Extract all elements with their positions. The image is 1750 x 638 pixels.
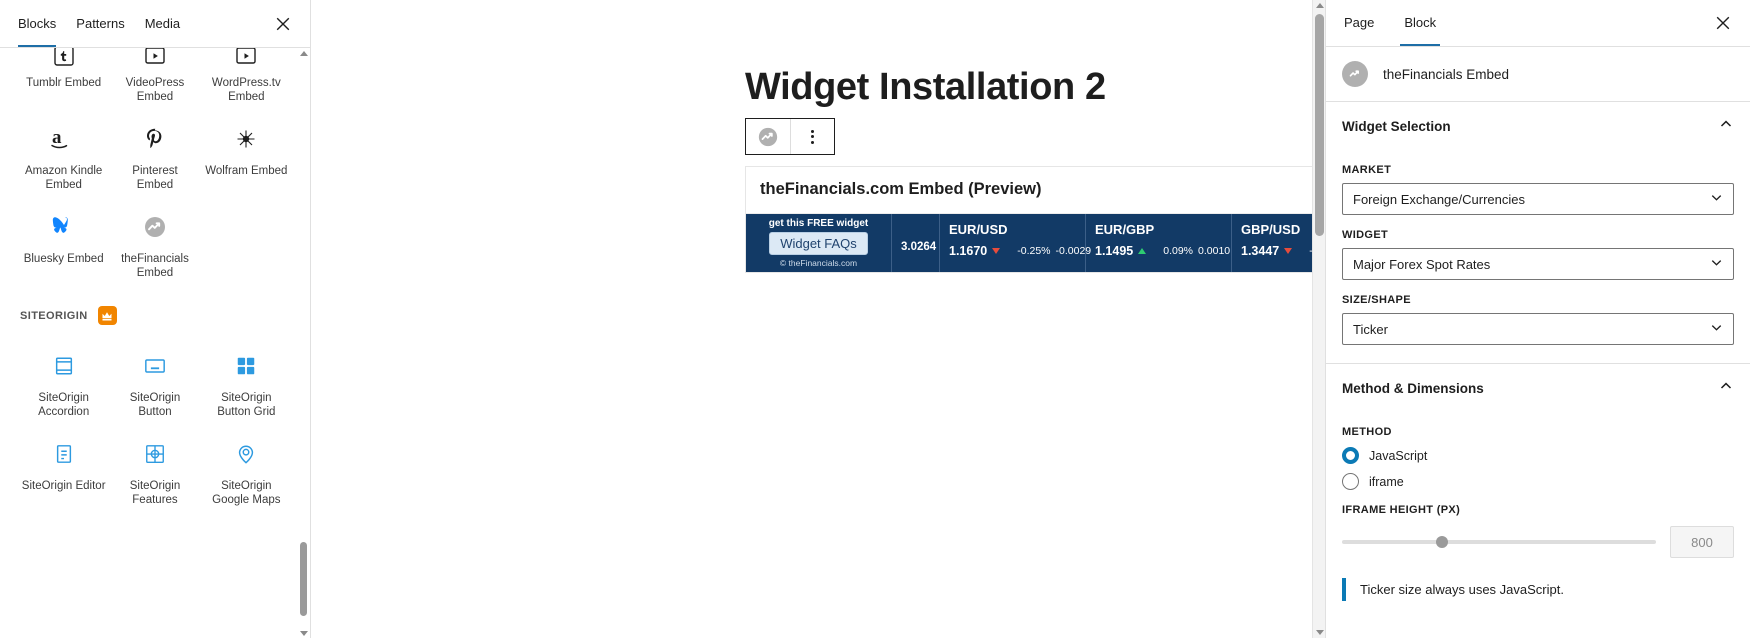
thefinancials-embed-block[interactable]: theFinancials.com Embed (Preview) get th… [745, 166, 1325, 273]
block-item-siteorigin-google-maps[interactable]: SiteOrigin Google Maps [201, 419, 292, 507]
block-item-siteorigin-features[interactable]: SiteOrigin Features [109, 419, 200, 507]
block-item-siteorigin-editor[interactable]: SiteOrigin Editor [18, 419, 109, 507]
selected-block-name: theFinancials Embed [1383, 67, 1509, 82]
quote-values: 1.1670 -0.25% -0.0029 [949, 244, 1077, 258]
block-item-label: SiteOrigin Google Maps [204, 479, 288, 507]
field-widget: WIDGET Major Forex Spot Rates [1342, 229, 1734, 280]
scroll-down-arrow[interactable] [299, 628, 308, 638]
ticker-lead-value-cell: 3.0264 [892, 214, 940, 272]
chevron-down-icon [1316, 630, 1324, 635]
block-options-button[interactable] [790, 119, 834, 154]
quote-change-pct: 0.09% [1163, 245, 1193, 257]
ticker-quote-eur-gbp[interactable]: EUR/GBP 1.1495 0.09% 0.0010 [1086, 214, 1232, 272]
block-type-button[interactable] [746, 119, 790, 154]
panel-widget-selection: Widget Selection MARKET Foreign Exchange… [1326, 102, 1750, 364]
chevron-up-icon [1316, 3, 1324, 8]
tab-patterns[interactable]: Patterns [66, 0, 134, 47]
quote-pair: EUR/GBP [1095, 222, 1223, 237]
radio-label: JavaScript [1369, 449, 1427, 463]
pinterest-icon [142, 122, 168, 156]
block-item-label: Pinterest Embed [113, 164, 197, 192]
block-item-amazon-kindle-embed[interactable]: a Amazon Kindle Embed [18, 104, 109, 192]
block-item-wolfram-embed[interactable]: Wolfram Embed [201, 104, 292, 192]
panel-method-dimensions-header[interactable]: Method & Dimensions [1342, 364, 1734, 412]
iframe-height-label: IFRAME HEIGHT (PX) [1342, 504, 1734, 516]
features-icon [144, 437, 166, 471]
size-shape-select[interactable]: Ticker [1342, 313, 1734, 345]
chevron-up-icon [1718, 378, 1734, 399]
ticker-notice: Ticker size always uses JavaScript. [1342, 578, 1734, 601]
trend-down-icon [1284, 248, 1292, 254]
field-size-shape: SIZE/SHAPE Ticker [1342, 294, 1734, 345]
panel-title: Widget Selection [1342, 119, 1451, 134]
scroll-up-arrow[interactable] [1316, 3, 1324, 8]
tumblr-icon [52, 48, 76, 68]
editor-canvas: Widget Installation 2 theFinancials.com … [311, 0, 1325, 638]
close-icon [275, 16, 291, 32]
block-item-label: Bluesky Embed [24, 252, 104, 266]
field-method: METHOD JavaScript iframe [1342, 426, 1734, 490]
chevron-down-icon [1709, 190, 1724, 208]
siteorigin-blocks-grid: SiteOrigin Accordion SiteOrigin Button S… [18, 331, 292, 507]
settings-sidebar: Page Block theFinancials Embed Widget Se… [1325, 0, 1750, 638]
google-maps-icon [235, 437, 257, 471]
block-item-label: theFinancials Embed [113, 252, 197, 280]
ticker-brand: get this FREE widget Widget FAQs © theFi… [746, 214, 892, 272]
widget-faqs-button[interactable]: Widget FAQs [769, 232, 868, 255]
crown-icon [101, 310, 113, 322]
ticker-lead-value: 3.0264 [901, 241, 936, 253]
block-item-label: SiteOrigin Button Grid [204, 391, 288, 419]
bluesky-icon [51, 210, 77, 244]
block-item-bluesky-embed[interactable]: Bluesky Embed [18, 192, 109, 280]
field-iframe-height: IFRAME HEIGHT (PX) 800 [1342, 504, 1734, 558]
accordion-icon [53, 349, 75, 383]
selected-block-card: theFinancials Embed [1326, 47, 1750, 102]
inserter-block-list: Tumblr Embed VideoPress Embed WordPress.… [0, 48, 310, 638]
block-item-label: SiteOrigin Accordion [22, 391, 106, 419]
chevron-down-icon [300, 631, 308, 636]
chevron-up-icon [300, 51, 308, 56]
thefinancials-icon [143, 210, 167, 244]
scroll-up-arrow[interactable] [299, 48, 308, 58]
chevron-down-icon [1709, 255, 1724, 273]
siteorigin-group-title: SITEORIGIN [20, 310, 88, 322]
panel-title: Method & Dimensions [1342, 381, 1484, 396]
size-shape-label: SIZE/SHAPE [1342, 294, 1734, 306]
quote-change-abs: 0.0010 [1198, 245, 1230, 257]
slider-knob[interactable] [1436, 536, 1448, 548]
iframe-height-input[interactable]: 800 [1670, 526, 1734, 558]
block-item-label: Tumblr Embed [26, 76, 101, 90]
block-item-label: WordPress.tv Embed [204, 76, 288, 104]
quote-price: 1.1670 [949, 244, 987, 258]
siteorigin-premium-badge [98, 306, 117, 325]
inserter-scrollbar[interactable] [299, 48, 308, 638]
block-toolbar [745, 118, 835, 155]
market-label: MARKET [1342, 164, 1734, 176]
block-item-tumblr-embed[interactable]: Tumblr Embed [18, 48, 109, 104]
ticker-copyright: © theFinancials.com [780, 258, 857, 268]
editor-icon [54, 437, 74, 471]
scroll-down-arrow[interactable] [1316, 630, 1324, 635]
quote-change-pct: -0.25% [1017, 245, 1050, 257]
svg-text:a: a [52, 127, 62, 148]
block-item-label: Wolfram Embed [205, 164, 287, 178]
radio-option-javascript[interactable]: JavaScript [1342, 447, 1734, 464]
block-item-thefinancials-embed[interactable]: theFinancials Embed [109, 192, 200, 280]
size-shape-value: Ticker [1353, 322, 1388, 337]
notice-text: Ticker size always uses JavaScript. [1346, 578, 1564, 601]
market-select[interactable]: Foreign Exchange/Currencies [1342, 183, 1734, 215]
block-item-label: Amazon Kindle Embed [22, 164, 106, 192]
block-item-siteorigin-button-grid[interactable]: SiteOrigin Button Grid [201, 331, 292, 419]
wolfram-icon [234, 122, 258, 156]
button-icon [143, 349, 167, 383]
ticker-quote-eur-usd[interactable]: EUR/USD 1.1670 -0.25% -0.0029 [940, 214, 1086, 272]
quote-values: 1.1495 0.09% 0.0010 [1095, 244, 1223, 258]
widget-label: WIDGET [1342, 229, 1734, 241]
quote-price: 1.1495 [1095, 244, 1133, 258]
block-inserter-panel: Blocks Patterns Media Tumblr Embed [0, 0, 311, 638]
embed-preview-body: get this FREE widget Widget FAQs © theFi… [746, 214, 1325, 272]
canvas-scrollbar[interactable] [1312, 0, 1325, 638]
block-item-label: SiteOrigin Button [113, 391, 197, 419]
thefinancials-icon [757, 126, 779, 148]
scrollbar-thumb[interactable] [1315, 14, 1324, 236]
panel-method-dimensions: Method & Dimensions METHOD JavaScript if… [1326, 364, 1750, 619]
trend-down-icon [992, 248, 1000, 254]
radio-option-iframe[interactable]: iframe [1342, 473, 1734, 490]
tab-media[interactable]: Media [135, 0, 190, 47]
block-item-label: SiteOrigin Editor [22, 479, 106, 493]
quote-price: 1.3447 [1241, 244, 1279, 258]
block-item-wordpresstv-embed[interactable]: WordPress.tv Embed [201, 48, 292, 104]
block-item-siteorigin-accordion[interactable]: SiteOrigin Accordion [18, 331, 109, 419]
chevron-down-icon [1709, 320, 1724, 338]
close-settings-button[interactable] [1710, 10, 1736, 36]
close-icon [1715, 15, 1731, 31]
chevron-up-icon [1718, 116, 1734, 137]
siteorigin-group-header: SITEORIGIN [18, 306, 292, 325]
quote-pair: EUR/USD [949, 222, 1077, 237]
amazon-icon: a [49, 122, 79, 156]
widget-select[interactable]: Major Forex Spot Rates [1342, 248, 1734, 280]
button-grid-icon [235, 349, 257, 383]
tab-blocks[interactable]: Blocks [8, 0, 66, 47]
block-item-videopress-embed[interactable]: VideoPress Embed [109, 48, 200, 104]
ticker-promo-text: get this FREE widget [769, 218, 868, 229]
radio-javascript[interactable] [1342, 447, 1359, 464]
widget-value: Major Forex Spot Rates [1353, 257, 1490, 272]
close-inserter-button[interactable] [270, 11, 296, 37]
block-item-label: SiteOrigin Features [113, 479, 197, 507]
iframe-height-control: 800 [1342, 526, 1734, 558]
wordpress-block-editor: Blocks Patterns Media Tumblr Embed [0, 0, 1750, 638]
radio-iframe[interactable] [1342, 473, 1359, 490]
scrollbar-thumb[interactable] [300, 542, 307, 616]
iframe-height-slider[interactable] [1342, 540, 1656, 544]
market-value: Foreign Exchange/Currencies [1353, 192, 1525, 207]
radio-label: iframe [1369, 475, 1404, 489]
videopress-icon [143, 48, 167, 68]
field-market: MARKET Foreign Exchange/Currencies [1342, 164, 1734, 215]
thefinancials-icon [1342, 61, 1368, 87]
embed-preview-heading: theFinancials.com Embed (Preview) [746, 167, 1325, 214]
tab-page[interactable]: Page [1332, 0, 1386, 46]
wordpresstv-icon [234, 48, 258, 68]
panel-widget-selection-header[interactable]: Widget Selection [1342, 102, 1734, 150]
block-grid-spacer [201, 192, 292, 280]
block-item-label: VideoPress Embed [113, 76, 197, 104]
more-vertical-icon [811, 130, 814, 144]
trend-up-icon [1138, 248, 1146, 254]
block-item-pinterest-embed[interactable]: Pinterest Embed [109, 104, 200, 192]
embed-blocks-grid: Tumblr Embed VideoPress Embed WordPress.… [18, 48, 292, 280]
method-label: METHOD [1342, 426, 1734, 438]
page-title[interactable]: Widget Installation 2 [745, 66, 1106, 109]
tab-block[interactable]: Block [1392, 0, 1448, 46]
block-item-siteorigin-button[interactable]: SiteOrigin Button [109, 331, 200, 419]
settings-tab-bar: Page Block [1326, 0, 1750, 47]
inserter-tab-bar: Blocks Patterns Media [0, 0, 310, 48]
forex-ticker: get this FREE widget Widget FAQs © theFi… [746, 214, 1325, 272]
